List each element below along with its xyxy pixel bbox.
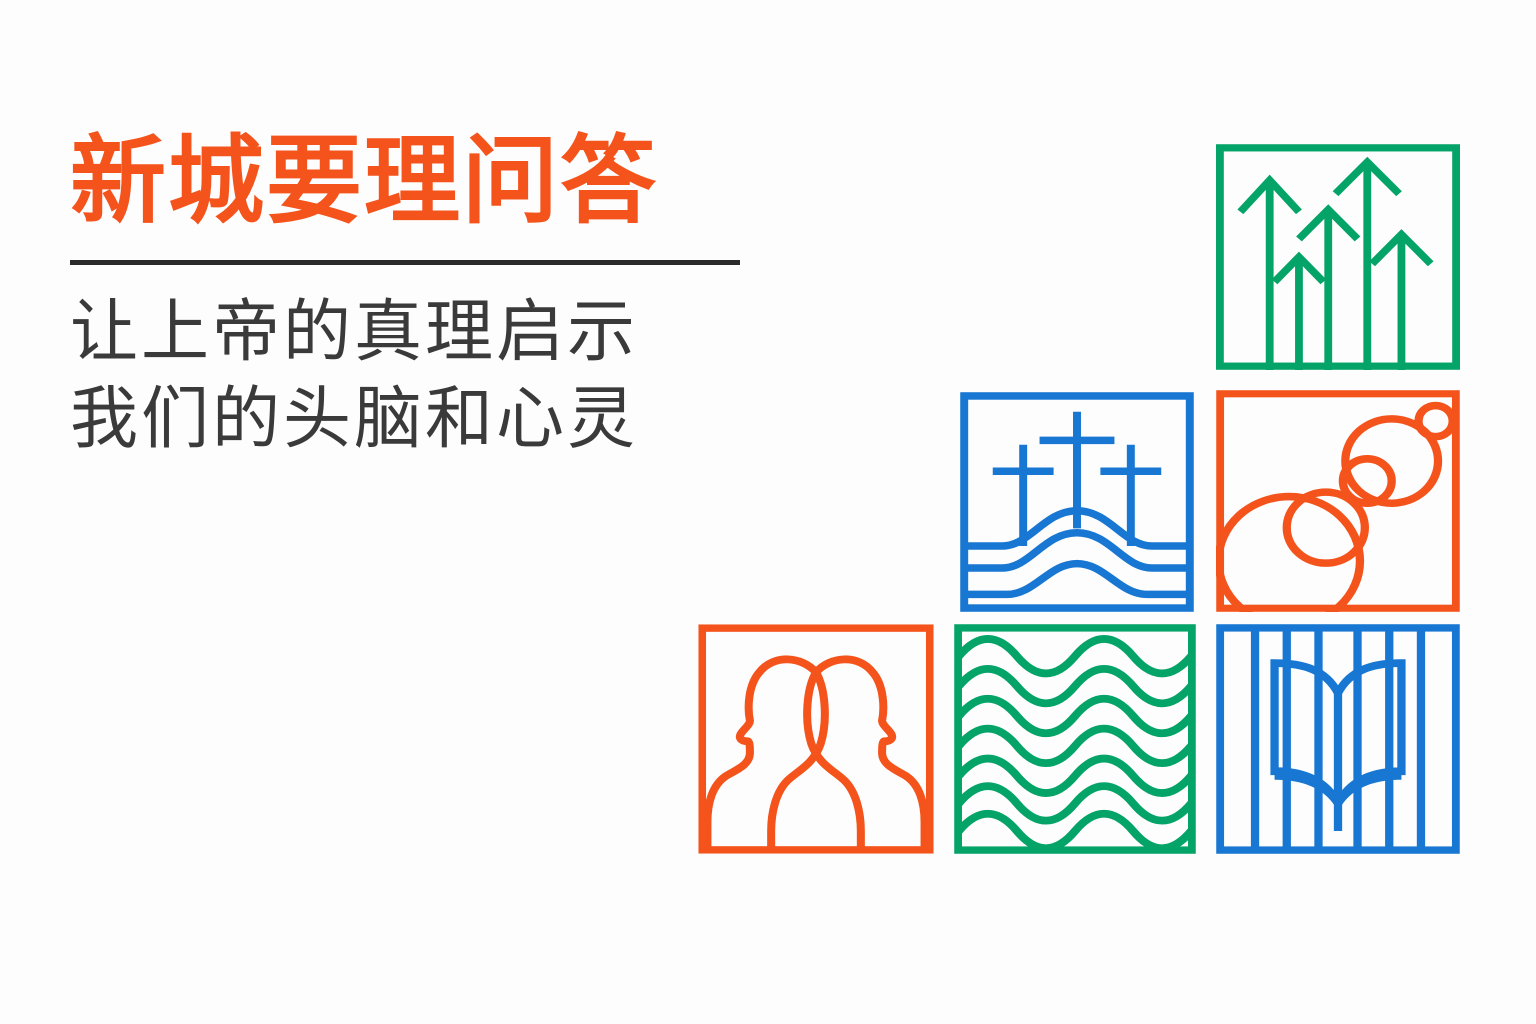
page-title: 新城要理问答 [70, 128, 770, 236]
circles-creation-icon [1216, 390, 1460, 612]
tile-crosses[interactable] [960, 392, 1194, 612]
wavy-water-lines-icon [954, 624, 1196, 854]
tile-people[interactable] [698, 624, 934, 854]
three-crosses-over-water-icon [960, 392, 1194, 612]
open-book-icon [1216, 624, 1460, 854]
title-divider [70, 260, 740, 265]
upward-arrows-icon [1216, 144, 1460, 370]
subtitle-line-2: 我们的头脑和心灵 [70, 376, 770, 463]
subtitle-line-1: 让上帝的真理启示 [70, 289, 770, 376]
title-block: 新城要理问答 让上帝的真理启示 我们的头脑和心灵 [70, 128, 770, 463]
tile-cosmos[interactable] [1216, 390, 1460, 612]
tile-scripture[interactable] [1216, 624, 1460, 854]
tile-growth[interactable] [1216, 144, 1460, 370]
poster-canvas: 新城要理问答 让上帝的真理启示 我们的头脑和心灵 [0, 0, 1536, 1024]
two-profiles-icon [698, 624, 934, 854]
tile-waters[interactable] [954, 624, 1196, 854]
